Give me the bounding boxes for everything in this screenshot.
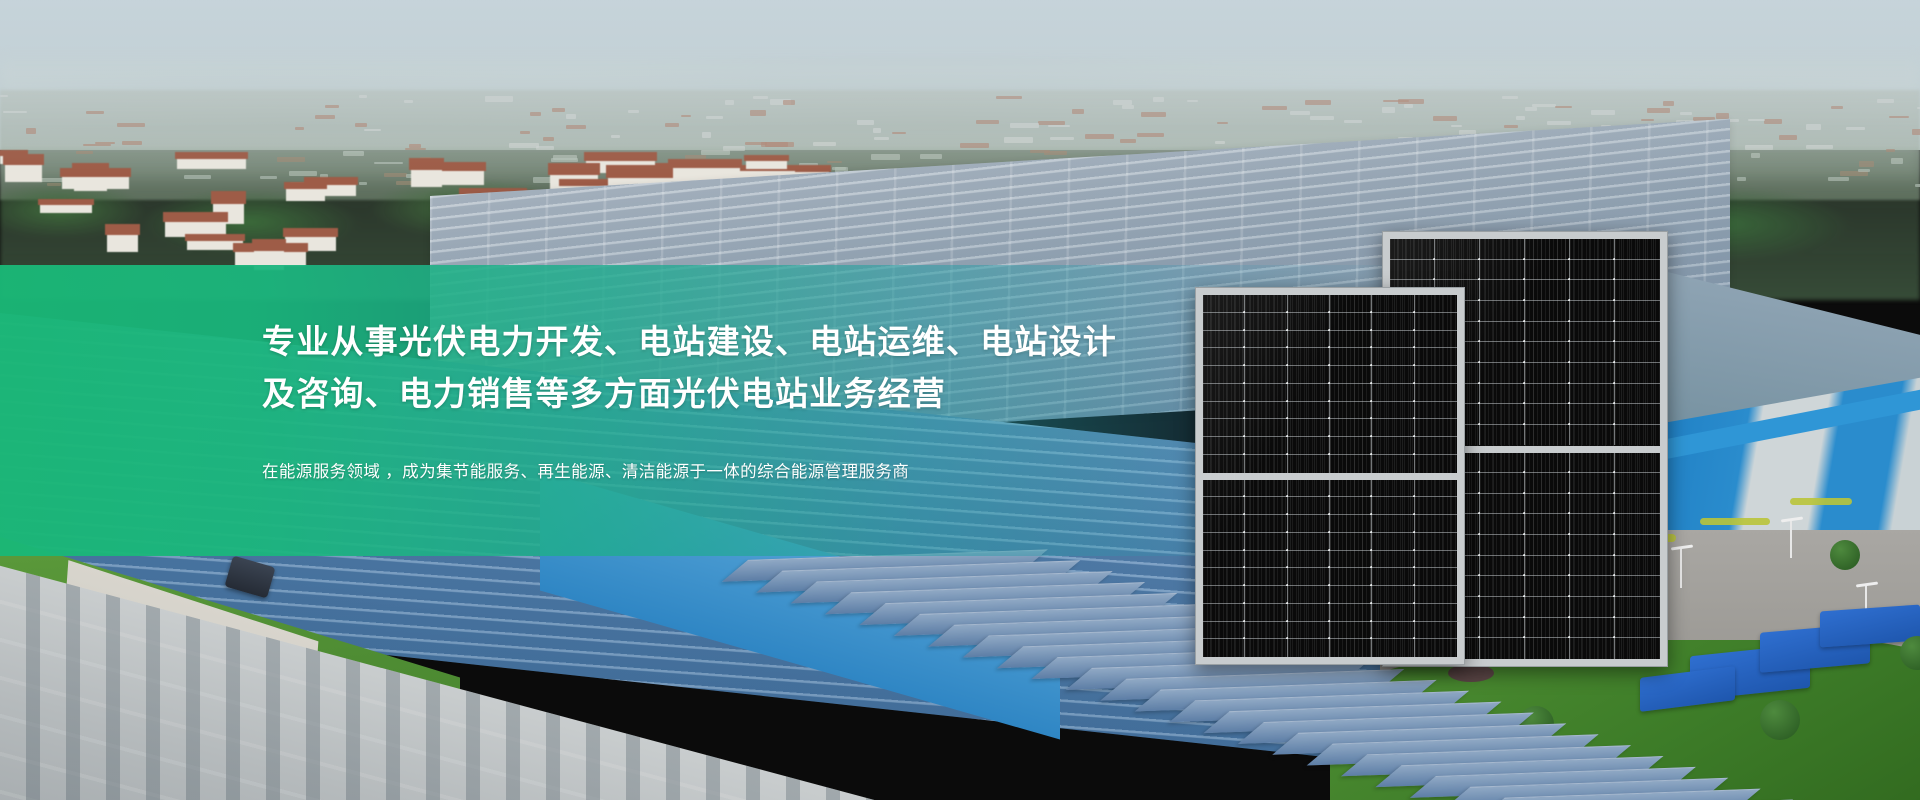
pv-cell <box>1525 425 1570 446</box>
pv-cell <box>1288 568 1330 586</box>
pv-cell <box>1372 348 1414 366</box>
pv-cell <box>1525 473 1570 494</box>
pv-cell <box>1245 331 1287 349</box>
pv-cell <box>1372 604 1414 622</box>
pv-cell <box>1330 455 1372 473</box>
pv-cell <box>1372 533 1414 551</box>
pv-cell <box>1615 280 1660 301</box>
pv-cell <box>1203 533 1245 551</box>
pv-cell <box>1570 425 1615 446</box>
pv-cell <box>1480 556 1525 577</box>
pv-cell <box>1203 497 1245 515</box>
pv-cell <box>1415 480 1457 498</box>
pv-cell <box>1288 419 1330 437</box>
pv-cell <box>1288 348 1330 366</box>
pv-cell <box>1480 453 1525 474</box>
pv-cell <box>1570 453 1615 474</box>
pv-cell <box>1570 322 1615 343</box>
pv-cell <box>1525 453 1570 474</box>
pv-cell <box>1615 576 1660 597</box>
pv-cell <box>1525 535 1570 556</box>
pv-cell <box>1615 425 1660 446</box>
pv-cell <box>1390 260 1435 281</box>
pv-cell <box>1525 363 1570 384</box>
pv-cell <box>1330 497 1372 515</box>
pv-cell <box>1435 260 1480 281</box>
pv-cell <box>1570 638 1615 659</box>
pv-cell <box>1203 639 1245 657</box>
pv-cell <box>1245 313 1287 331</box>
pv-cell <box>1288 437 1330 455</box>
pv-cell <box>1525 404 1570 425</box>
pv-cell <box>1480 322 1525 343</box>
hero-banner: 专业从事光伏电力开发、电站建设、电站运维、电站设计 及咨询、电力销售等多方面光伏… <box>0 0 1920 800</box>
pv-cell <box>1525 494 1570 515</box>
pv-cell <box>1615 384 1660 405</box>
pv-cell <box>1245 533 1287 551</box>
pv-cell <box>1525 576 1570 597</box>
pv-cell <box>1615 556 1660 577</box>
pv-cell <box>1480 597 1525 618</box>
pv-cell <box>1570 556 1615 577</box>
pv-cell <box>1525 239 1570 260</box>
pv-cell <box>1525 597 1570 618</box>
pv-cell <box>1615 638 1660 659</box>
pv-cell <box>1570 535 1615 556</box>
pv-cell <box>1390 239 1435 260</box>
pv-cell <box>1415 437 1457 455</box>
pv-cell <box>1372 331 1414 349</box>
pv-cell <box>1525 514 1570 535</box>
pv-cell <box>1570 618 1615 639</box>
pv-cell <box>1330 348 1372 366</box>
pv-cell <box>1570 473 1615 494</box>
pv-cell <box>1288 313 1330 331</box>
pv-cell <box>1615 301 1660 322</box>
pv-cell <box>1330 551 1372 569</box>
pv-cell <box>1570 576 1615 597</box>
headline-line-1: 专业从事光伏电力开发、电站建设、电站运维、电站设计 <box>262 316 1262 368</box>
pv-cell <box>1330 604 1372 622</box>
pv-cell <box>1245 586 1287 604</box>
pv-cell <box>1245 604 1287 622</box>
pv-cell <box>1203 348 1245 366</box>
pv-cell <box>1372 419 1414 437</box>
pv-cell <box>1330 313 1372 331</box>
pv-cell <box>1615 597 1660 618</box>
pv-cell <box>1480 576 1525 597</box>
pv-cell <box>1415 402 1457 420</box>
pv-cell <box>1480 239 1525 260</box>
pv-cell <box>1330 331 1372 349</box>
pv-cell <box>1615 322 1660 343</box>
banner-subtitle: 在能源服务领域 ，成为集节能服务、再生能源、清洁能源于一体的综合能源管理服务商 <box>262 459 1262 485</box>
pv-cell <box>1415 622 1457 640</box>
pv-cell <box>1525 384 1570 405</box>
pv-cell <box>1480 404 1525 425</box>
pv-cell <box>1203 419 1245 437</box>
pv-cell <box>1615 535 1660 556</box>
pv-cell <box>1570 514 1615 535</box>
banner-copy: 专业从事光伏电力开发、电站建设、电站运维、电站设计 及咨询、电力销售等多方面光伏… <box>262 316 1262 485</box>
pv-cell <box>1615 260 1660 281</box>
panel-glass <box>1203 295 1457 657</box>
panel-half <box>1203 295 1457 473</box>
pv-cell <box>1372 497 1414 515</box>
pv-cell <box>1203 480 1245 498</box>
pv-cell <box>1415 515 1457 533</box>
pv-cell <box>1288 497 1330 515</box>
pv-cell <box>1615 239 1660 260</box>
pv-cell <box>1480 384 1525 405</box>
pv-cell <box>1245 622 1287 640</box>
pv-cell <box>1288 639 1330 657</box>
pv-cell <box>1415 533 1457 551</box>
pv-cell <box>1480 260 1525 281</box>
pv-cell <box>1330 622 1372 640</box>
pv-cell <box>1525 301 1570 322</box>
pv-cell <box>1245 480 1287 498</box>
pv-cell <box>1288 402 1330 420</box>
pv-cell <box>1288 455 1330 473</box>
pv-cell <box>1415 455 1457 473</box>
pv-cell <box>1330 419 1372 437</box>
pv-cell <box>1330 402 1372 420</box>
pv-cell <box>1372 455 1414 473</box>
panel-center-bar <box>1203 473 1457 480</box>
pv-cell <box>1570 342 1615 363</box>
pv-cell <box>1245 551 1287 569</box>
pv-cell <box>1525 322 1570 343</box>
pv-cell <box>1570 597 1615 618</box>
pv-cell <box>1415 313 1457 331</box>
pv-cell <box>1615 363 1660 384</box>
pv-cell <box>1415 586 1457 604</box>
pv-cell <box>1245 348 1287 366</box>
pv-cell <box>1330 515 1372 533</box>
pv-cell <box>1245 568 1287 586</box>
pv-cell <box>1570 384 1615 405</box>
pv-cell <box>1372 366 1414 384</box>
pv-cell <box>1415 366 1457 384</box>
headline-line-2: 及咨询、电力销售等多方面光伏电站业务经营 <box>262 368 1262 420</box>
pv-cell <box>1372 295 1414 313</box>
pv-cell <box>1372 622 1414 640</box>
pv-cell <box>1330 533 1372 551</box>
pv-cell <box>1245 419 1287 437</box>
pv-cell <box>1203 604 1245 622</box>
pv-cell <box>1480 514 1525 535</box>
pv-cell <box>1203 622 1245 640</box>
pv-cell <box>1480 473 1525 494</box>
pv-cell <box>1203 515 1245 533</box>
pv-cell <box>1480 363 1525 384</box>
pv-cell <box>1480 618 1525 639</box>
pv-cell <box>1330 568 1372 586</box>
pv-cell <box>1330 295 1372 313</box>
pv-cell <box>1330 480 1372 498</box>
pv-cell <box>1372 586 1414 604</box>
pv-cell <box>1245 366 1287 384</box>
pv-cell <box>1288 366 1330 384</box>
pv-cell <box>1525 260 1570 281</box>
pv-cell <box>1570 494 1615 515</box>
pv-cell <box>1570 239 1615 260</box>
pv-cell <box>1372 437 1414 455</box>
pv-cell <box>1415 331 1457 349</box>
pv-cell <box>1203 455 1245 473</box>
pv-cell <box>1415 497 1457 515</box>
pv-cell <box>1372 313 1414 331</box>
pv-cell <box>1615 514 1660 535</box>
yellow-hedge <box>1790 498 1852 505</box>
pv-cell <box>1570 404 1615 425</box>
pv-cell <box>1203 437 1245 455</box>
pv-cell <box>1288 515 1330 533</box>
pv-cell <box>1330 639 1372 657</box>
pv-cell <box>1415 419 1457 437</box>
pv-cell <box>1480 301 1525 322</box>
pv-cell <box>1415 639 1457 657</box>
pv-cell <box>1570 260 1615 281</box>
pv-cell <box>1415 551 1457 569</box>
pv-cell <box>1615 453 1660 474</box>
pv-cell <box>1288 622 1330 640</box>
pv-cell <box>1570 301 1615 322</box>
pv-cell <box>1415 295 1457 313</box>
pv-cell <box>1203 568 1245 586</box>
pv-cell <box>1480 280 1525 301</box>
pv-cell <box>1245 455 1287 473</box>
pv-cell <box>1415 604 1457 622</box>
pv-cell <box>1245 639 1287 657</box>
pv-cell <box>1288 295 1330 313</box>
pv-cell <box>1570 363 1615 384</box>
pv-cell <box>1330 384 1372 402</box>
pv-cell <box>1480 494 1525 515</box>
pv-cell <box>1525 618 1570 639</box>
banner-headline: 专业从事光伏电力开发、电站建设、电站运维、电站设计 及咨询、电力销售等多方面光伏… <box>262 316 1262 420</box>
pv-cell <box>1615 618 1660 639</box>
pv-cell <box>1615 404 1660 425</box>
pv-cell <box>1288 551 1330 569</box>
pv-cell <box>1480 342 1525 363</box>
pv-cell <box>1525 342 1570 363</box>
pv-cell <box>1372 515 1414 533</box>
pv-cell <box>1288 384 1330 402</box>
pv-cell <box>1288 480 1330 498</box>
pv-cell <box>1203 586 1245 604</box>
pv-cell <box>1245 402 1287 420</box>
pv-cell <box>1480 535 1525 556</box>
pv-cell <box>1330 366 1372 384</box>
pv-cell <box>1203 366 1245 384</box>
pv-cell <box>1615 342 1660 363</box>
pv-cell <box>1415 568 1457 586</box>
pv-cell <box>1525 280 1570 301</box>
pv-cell <box>1203 331 1245 349</box>
pv-cell <box>1372 480 1414 498</box>
pv-cell <box>1203 313 1245 331</box>
pv-cell <box>1330 586 1372 604</box>
panel-half <box>1203 480 1457 658</box>
pv-cell <box>1245 384 1287 402</box>
pv-cell <box>1288 331 1330 349</box>
pv-cell <box>1372 568 1414 586</box>
pv-cell <box>1415 348 1457 366</box>
pv-cell <box>1245 295 1287 313</box>
pv-cell <box>1615 494 1660 515</box>
pv-cell <box>1330 437 1372 455</box>
pv-cell <box>1203 295 1245 313</box>
pv-cell <box>1372 639 1414 657</box>
solar-panel-front <box>1195 287 1465 665</box>
pv-cell <box>1203 402 1245 420</box>
pv-cell <box>1288 533 1330 551</box>
pv-cell <box>1203 384 1245 402</box>
pv-cell <box>1288 604 1330 622</box>
pv-cell <box>1570 280 1615 301</box>
pv-cell <box>1245 515 1287 533</box>
pv-cell <box>1480 638 1525 659</box>
pv-cell <box>1245 497 1287 515</box>
pv-cell <box>1415 384 1457 402</box>
pv-cell <box>1203 551 1245 569</box>
pv-cell <box>1372 551 1414 569</box>
pv-cell <box>1525 638 1570 659</box>
pv-cell <box>1615 473 1660 494</box>
pv-cell <box>1525 556 1570 577</box>
pv-cell <box>1480 425 1525 446</box>
pv-cell <box>1372 384 1414 402</box>
pv-cell <box>1372 402 1414 420</box>
pv-cell <box>1435 239 1480 260</box>
pv-cell <box>1288 586 1330 604</box>
pv-cell <box>1245 437 1287 455</box>
